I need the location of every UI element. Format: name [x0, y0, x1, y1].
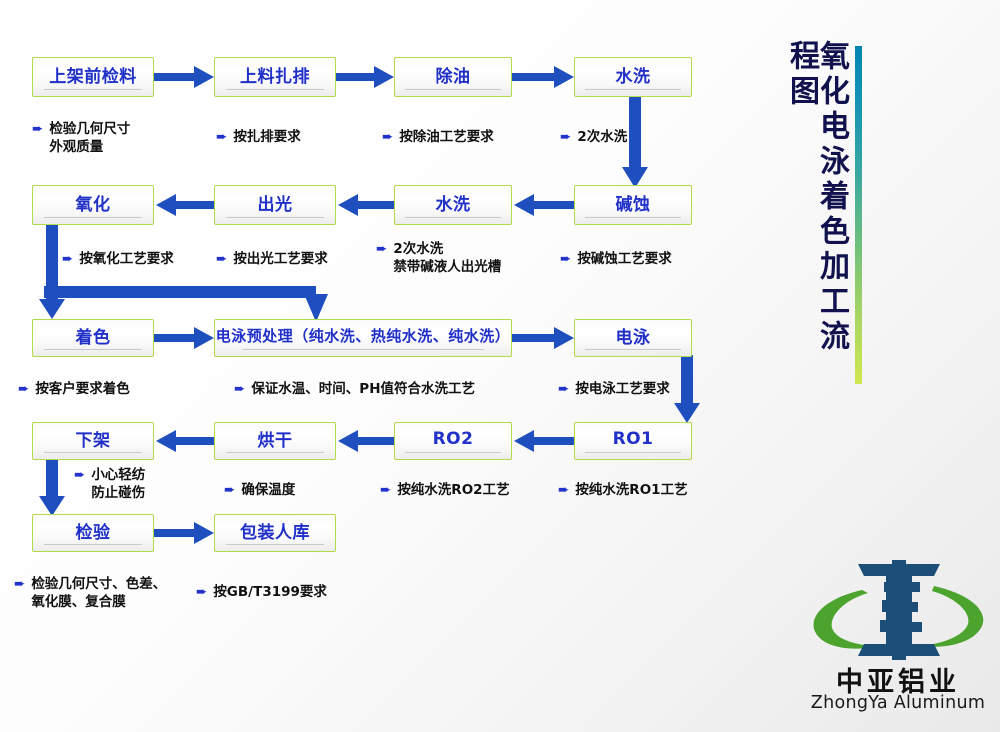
note-5: ➨ 按氧化工艺要求 — [62, 250, 174, 268]
process-box-label: 出光 — [258, 190, 293, 215]
note-1: ➨ 检验几何尺寸外观质量 — [32, 120, 130, 156]
process-box-7[interactable]: 水洗 — [394, 185, 512, 225]
title-gradient-bar — [855, 46, 862, 384]
note-11: ➨ 按电泳工艺要求 — [558, 380, 670, 398]
page-title: 氧化电泳着色加工流程图 — [786, 40, 846, 385]
bullet-arrow-icon: ➨ — [196, 586, 207, 600]
process-box-6[interactable]: 出光 — [214, 185, 336, 225]
note-3: ➨ 按除油工艺要求 — [382, 128, 494, 146]
bullet-arrow-icon: ➨ — [14, 578, 25, 592]
note-15: ➨ 按纯水洗RO1工艺 — [558, 481, 688, 499]
note-text: 按GB/T3199要求 — [213, 583, 327, 601]
process-box-2[interactable]: 上料扎排 — [214, 57, 336, 97]
bullet-arrow-icon: ➨ — [216, 131, 227, 145]
company-logo: 中亚铝业 ZhongYa Aluminum — [800, 556, 996, 726]
process-box-13[interactable]: 烘干 — [214, 422, 336, 460]
process-box-label: 除油 — [436, 62, 471, 87]
process-box-label: RO1 — [613, 429, 654, 449]
process-box-label: 检验 — [76, 518, 111, 543]
note-text: 检验几何尺寸外观质量 — [49, 120, 130, 156]
process-box-label: 烘干 — [258, 426, 293, 451]
process-box-5[interactable]: 氧化 — [32, 185, 154, 225]
note-12: ➨ 小心轻纺防止碰伤 — [74, 466, 145, 502]
process-box-label: 电泳 — [616, 323, 651, 348]
arrow-b9-to-b10 — [154, 324, 216, 352]
note-text: 按纯水洗RO2工艺 — [397, 481, 509, 499]
bullet-arrow-icon: ➨ — [380, 484, 391, 498]
note-8: ➨ 按碱蚀工艺要求 — [560, 250, 672, 268]
process-box-label: 水洗 — [436, 190, 471, 215]
bullet-arrow-icon: ➨ — [560, 253, 571, 267]
note-4: ➨ 2次水洗 — [560, 128, 627, 146]
note-2: ➨ 按扎排要求 — [216, 128, 301, 146]
process-box-4[interactable]: 水洗 — [574, 57, 692, 97]
process-box-16[interactable]: 检验 — [32, 514, 154, 552]
note-text: 2次水洗 — [577, 128, 627, 146]
arrow-b3-to-b4 — [512, 63, 576, 91]
note-text: 按氧化工艺要求 — [79, 250, 174, 268]
bullet-arrow-icon: ➨ — [558, 484, 569, 498]
bullet-arrow-icon: ➨ — [62, 253, 73, 267]
process-box-3[interactable]: 除油 — [394, 57, 512, 97]
note-text: 检验几何尺寸、色差、氧化膜、复合膜 — [31, 575, 166, 611]
note-13: ➨ 确保温度 — [224, 481, 295, 499]
arrow-b13-to-b12 — [154, 427, 216, 455]
process-box-label: 氧化 — [76, 190, 111, 215]
process-box-label: 上料扎排 — [240, 62, 310, 87]
logo-mark-icon — [800, 556, 996, 660]
process-box-label: RO2 — [433, 429, 474, 449]
process-box-label: 电泳预处理（纯水洗、热纯水洗、纯水洗） — [216, 325, 511, 346]
arrow-b8-to-b7 — [512, 191, 576, 219]
diagram-title-block: 氧化电泳着色加工流程图 — [786, 40, 866, 390]
arrow-b15-to-b14 — [512, 427, 576, 455]
bullet-arrow-icon: ➨ — [216, 253, 227, 267]
bullet-arrow-icon: ➨ — [18, 383, 29, 397]
note-text: 按除油工艺要求 — [399, 128, 494, 146]
bullet-arrow-icon: ➨ — [558, 383, 569, 397]
note-text: 按碱蚀工艺要求 — [577, 250, 672, 268]
note-text: 保证水温、时间、PH值符合水洗工艺 — [251, 380, 475, 398]
note-text: 按客户要求着色 — [35, 380, 130, 398]
process-box-label: 包装人库 — [240, 518, 310, 543]
note-9: ➨ 按客户要求着色 — [18, 380, 130, 398]
process-box-11[interactable]: 电泳 — [574, 319, 692, 357]
process-box-10[interactable]: 电泳预处理（纯水洗、热纯水洗、纯水洗） — [214, 319, 512, 357]
note-text: 小心轻纺防止碰伤 — [91, 466, 145, 502]
arrow-b10-to-b11 — [512, 324, 576, 352]
process-box-label: 水洗 — [616, 62, 651, 87]
process-box-9[interactable]: 着色 — [32, 319, 154, 357]
bullet-arrow-icon: ➨ — [382, 131, 393, 145]
bullet-arrow-icon: ➨ — [224, 484, 235, 498]
note-7: ➨ 2次水洗禁带碱液人出光槽 — [376, 240, 501, 276]
process-box-label: 上架前检料 — [49, 62, 137, 87]
bullet-arrow-icon: ➨ — [376, 243, 387, 257]
note-14: ➨ 按纯水洗RO2工艺 — [380, 481, 510, 499]
arrow-b11-to-b15 — [672, 355, 702, 425]
arrow-b16-to-b17 — [154, 519, 216, 547]
arrow-b6-to-b5 — [154, 191, 216, 219]
process-box-1[interactable]: 上架前检料 — [32, 57, 154, 97]
process-box-17[interactable]: 包装人库 — [214, 514, 336, 552]
arrow-b2-to-b3 — [336, 63, 396, 91]
process-box-14[interactable]: RO2 — [394, 422, 512, 460]
note-17: ➨ 按GB/T3199要求 — [196, 583, 327, 601]
arrow-b12-to-b16 — [38, 458, 70, 518]
flowchart-canvas: 上架前检料 上料扎排 除油 水洗 ➨ 检验几何尺寸外观质量 ➨ 按扎排要求 ➨ … — [0, 0, 1000, 732]
note-text: 按纯水洗RO1工艺 — [575, 481, 687, 499]
bullet-arrow-icon: ➨ — [234, 383, 245, 397]
bullet-arrow-icon: ➨ — [74, 469, 85, 483]
arrow-b1-to-b2 — [154, 63, 216, 91]
note-text: 按电泳工艺要求 — [575, 380, 670, 398]
logo-english-name: ZhongYa Aluminum — [800, 693, 996, 713]
arrow-b7-to-b6 — [336, 191, 396, 219]
process-box-12[interactable]: 下架 — [32, 422, 154, 460]
note-text: 按出光工艺要求 — [233, 250, 328, 268]
bullet-arrow-icon: ➨ — [560, 131, 571, 145]
bullet-arrow-icon: ➨ — [32, 123, 43, 137]
process-box-label: 碱蚀 — [616, 190, 651, 215]
note-6: ➨ 按出光工艺要求 — [216, 250, 328, 268]
process-box-label: 下架 — [76, 426, 111, 451]
process-box-label: 着色 — [76, 323, 111, 348]
note-10: ➨ 保证水温、时间、PH值符合水洗工艺 — [234, 380, 475, 398]
note-text: 确保温度 — [241, 481, 295, 499]
note-text: 按扎排要求 — [233, 128, 301, 146]
note-16: ➨ 检验几何尺寸、色差、氧化膜、复合膜 — [14, 575, 166, 611]
process-box-15[interactable]: RO1 — [574, 422, 692, 460]
arrow-b14-to-b13 — [336, 427, 396, 455]
note-text: 2次水洗禁带碱液人出光槽 — [393, 240, 501, 276]
process-box-8[interactable]: 碱蚀 — [574, 185, 692, 225]
